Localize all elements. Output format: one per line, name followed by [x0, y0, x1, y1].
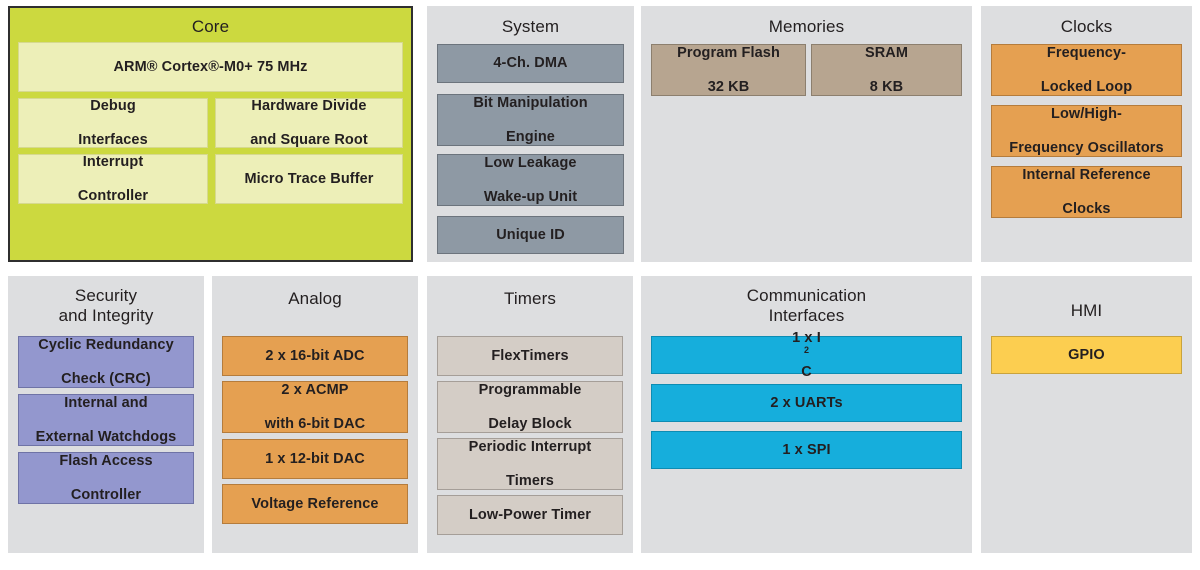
- crc-line-2: Check (CRC): [23, 371, 189, 388]
- panel-security-title: Security and Integrity: [8, 286, 204, 326]
- irc-line-2: Clocks: [996, 201, 1177, 218]
- block-arm-cortex-m0-label: ARM® Cortex®-M0+ 75 MHz: [19, 59, 402, 76]
- block-spi: 1 x SPI: [651, 431, 962, 469]
- panel-system-title: System: [427, 16, 634, 37]
- irc-line-1: Internal Reference: [996, 167, 1177, 184]
- panel-core-title: Core: [10, 16, 411, 37]
- security-title-line-2: and Integrity: [59, 306, 154, 325]
- block-programmable-delay-block: Programmable Delay Block: [437, 381, 623, 433]
- hwdiv-line-2: and Square Root: [220, 132, 398, 149]
- block-micro-trace-buffer-label: Micro Trace Buffer: [216, 171, 402, 188]
- block-i2c: 1 x I2C: [651, 336, 962, 374]
- nvic-line-2: Controller: [23, 188, 203, 205]
- pdb-line-2: Delay Block: [442, 416, 618, 433]
- fac-line-2: Controller: [23, 487, 189, 504]
- mcu-block-diagram: Core ARM® Cortex®-M0+ 75 MHz Debug Inter…: [0, 0, 1200, 570]
- block-acmp: 2 x ACMP with 6-bit DAC: [222, 381, 408, 433]
- block-voltage-reference-label: Voltage Reference: [223, 496, 407, 513]
- block-interrupt-controller-label: Interrupt Controller: [19, 154, 207, 205]
- bme-line-1: Bit Manipulation: [442, 95, 619, 112]
- block-watchdogs: Internal and External Watchdogs: [18, 394, 194, 446]
- crc-line-1: Cyclic Redundancy: [23, 337, 189, 354]
- block-bit-manipulation-engine: Bit Manipulation Engine: [437, 94, 624, 146]
- panel-communication-title: Communication Interfaces: [641, 286, 972, 326]
- block-acmp-label: 2 x ACMP with 6-bit DAC: [223, 382, 407, 433]
- block-dma-label: 4-Ch. DMA: [438, 55, 623, 72]
- osc-line-2: Frequency Oscillators: [996, 140, 1177, 157]
- bme-line-2: Engine: [442, 129, 619, 146]
- fll-line-2: Locked Loop: [996, 79, 1177, 96]
- block-debug-interfaces: Debug Interfaces: [18, 98, 208, 148]
- block-micro-trace-buffer: Micro Trace Buffer: [215, 154, 403, 204]
- block-gpio-label: GPIO: [992, 347, 1181, 364]
- block-crc: Cyclic Redundancy Check (CRC): [18, 336, 194, 388]
- panel-timers: Timers FlexTimers Programmable Delay Blo…: [427, 276, 633, 553]
- panel-analog: Analog 2 x 16-bit ADC 2 x ACMP with 6-bi…: [212, 276, 418, 553]
- block-flash-access-controller-label: Flash Access Controller: [19, 453, 193, 504]
- block-interrupt-controller: Interrupt Controller: [18, 154, 208, 204]
- comm-title-line-2: Interfaces: [769, 306, 845, 325]
- block-low-power-timer-label: Low-Power Timer: [438, 507, 622, 524]
- block-flextimers-label: FlexTimers: [438, 348, 622, 365]
- block-dma: 4-Ch. DMA: [437, 44, 624, 83]
- llwu-line-1: Low Leakage: [442, 155, 619, 172]
- block-internal-reference-clocks: Internal Reference Clocks: [991, 166, 1182, 218]
- block-programmable-delay-block-label: Programmable Delay Block: [438, 382, 622, 433]
- sram-line-2: 8 KB: [816, 79, 957, 96]
- panel-timers-title: Timers: [427, 288, 633, 309]
- block-bit-manipulation-engine-label: Bit Manipulation Engine: [438, 95, 623, 146]
- block-uarts: 2 x UARTs: [651, 384, 962, 422]
- panel-memories: Memories Program Flash 32 KB SRAM 8 KB: [641, 6, 972, 262]
- block-frequency-locked-loop: Frequency- Locked Loop: [991, 44, 1182, 96]
- block-periodic-interrupt-timers: Periodic Interrupt Timers: [437, 438, 623, 490]
- panel-clocks-title: Clocks: [981, 16, 1192, 37]
- panel-clocks: Clocks Frequency- Locked Loop Low/High- …: [981, 6, 1192, 262]
- i2c-suffix: C: [656, 364, 957, 381]
- security-title-line-1: Security: [75, 286, 137, 305]
- panel-hmi-title: HMI: [981, 300, 1192, 321]
- acmp-line-2: with 6-bit DAC: [227, 416, 403, 433]
- panel-memories-title: Memories: [641, 16, 972, 37]
- nvic-line-1: Interrupt: [23, 154, 203, 171]
- block-low-power-timer: Low-Power Timer: [437, 495, 623, 535]
- block-low-leakage-wakeup-unit-label: Low Leakage Wake-up Unit: [438, 155, 623, 206]
- block-debug-interfaces-label: Debug Interfaces: [19, 98, 207, 149]
- block-flextimers: FlexTimers: [437, 336, 623, 376]
- llwu-line-2: Wake-up Unit: [442, 189, 619, 206]
- pit-line-2: Timers: [442, 473, 618, 490]
- block-adc-label: 2 x 16-bit ADC: [223, 348, 407, 365]
- panel-communication-interfaces: Communication Interfaces 1 x I2C 2 x UAR…: [641, 276, 972, 553]
- block-unique-id-label: Unique ID: [438, 227, 623, 244]
- block-gpio: GPIO: [991, 336, 1182, 374]
- panel-core: Core ARM® Cortex®-M0+ 75 MHz Debug Inter…: [8, 6, 413, 262]
- block-voltage-reference: Voltage Reference: [222, 484, 408, 524]
- hwdiv-line-1: Hardware Divide: [220, 98, 398, 115]
- block-hardware-divide-square-root: Hardware Divide and Square Root: [215, 98, 403, 148]
- block-i2c-label: 1 x I2C: [652, 330, 961, 381]
- panel-system: System 4-Ch. DMA Bit Manipulation Engine…: [427, 6, 634, 262]
- block-sram: SRAM 8 KB: [811, 44, 962, 96]
- block-oscillators-label: Low/High- Frequency Oscillators: [992, 106, 1181, 157]
- i2c-superscript: 2: [804, 345, 809, 355]
- fac-line-1: Flash Access: [23, 453, 189, 470]
- sram-line-1: SRAM: [816, 45, 957, 62]
- flash-line-2: 32 KB: [656, 79, 801, 96]
- block-hardware-divide-label: Hardware Divide and Square Root: [216, 98, 402, 149]
- block-arm-cortex-m0: ARM® Cortex®-M0+ 75 MHz: [18, 42, 403, 92]
- panel-hmi: HMI GPIO: [981, 276, 1192, 553]
- block-dac-label: 1 x 12-bit DAC: [223, 451, 407, 468]
- osc-line-1: Low/High-: [996, 106, 1177, 123]
- panel-security-and-integrity: Security and Integrity Cyclic Redundancy…: [8, 276, 204, 553]
- debug-line-1: Debug: [23, 98, 203, 115]
- pit-line-1: Periodic Interrupt: [442, 439, 618, 456]
- block-unique-id: Unique ID: [437, 216, 624, 254]
- block-oscillators: Low/High- Frequency Oscillators: [991, 105, 1182, 157]
- block-spi-label: 1 x SPI: [652, 442, 961, 459]
- block-program-flash: Program Flash 32 KB: [651, 44, 806, 96]
- panel-analog-title: Analog: [212, 288, 418, 309]
- wdog-line-2: External Watchdogs: [23, 429, 189, 446]
- fll-line-1: Frequency-: [996, 45, 1177, 62]
- flash-line-1: Program Flash: [656, 45, 801, 62]
- block-frequency-locked-loop-label: Frequency- Locked Loop: [992, 45, 1181, 96]
- pdb-line-1: Programmable: [442, 382, 618, 399]
- block-uarts-label: 2 x UARTs: [652, 395, 961, 412]
- block-adc: 2 x 16-bit ADC: [222, 336, 408, 376]
- comm-title-line-1: Communication: [747, 286, 866, 305]
- wdog-line-1: Internal and: [23, 395, 189, 412]
- block-internal-reference-clocks-label: Internal Reference Clocks: [992, 167, 1181, 218]
- debug-line-2: Interfaces: [23, 132, 203, 149]
- block-program-flash-label: Program Flash 32 KB: [652, 45, 805, 96]
- block-watchdogs-label: Internal and External Watchdogs: [19, 395, 193, 446]
- block-flash-access-controller: Flash Access Controller: [18, 452, 194, 504]
- acmp-line-1: 2 x ACMP: [227, 382, 403, 399]
- block-sram-label: SRAM 8 KB: [812, 45, 961, 96]
- block-periodic-interrupt-timers-label: Periodic Interrupt Timers: [438, 439, 622, 490]
- block-dac: 1 x 12-bit DAC: [222, 439, 408, 479]
- block-low-leakage-wakeup-unit: Low Leakage Wake-up Unit: [437, 154, 624, 206]
- block-crc-label: Cyclic Redundancy Check (CRC): [19, 337, 193, 388]
